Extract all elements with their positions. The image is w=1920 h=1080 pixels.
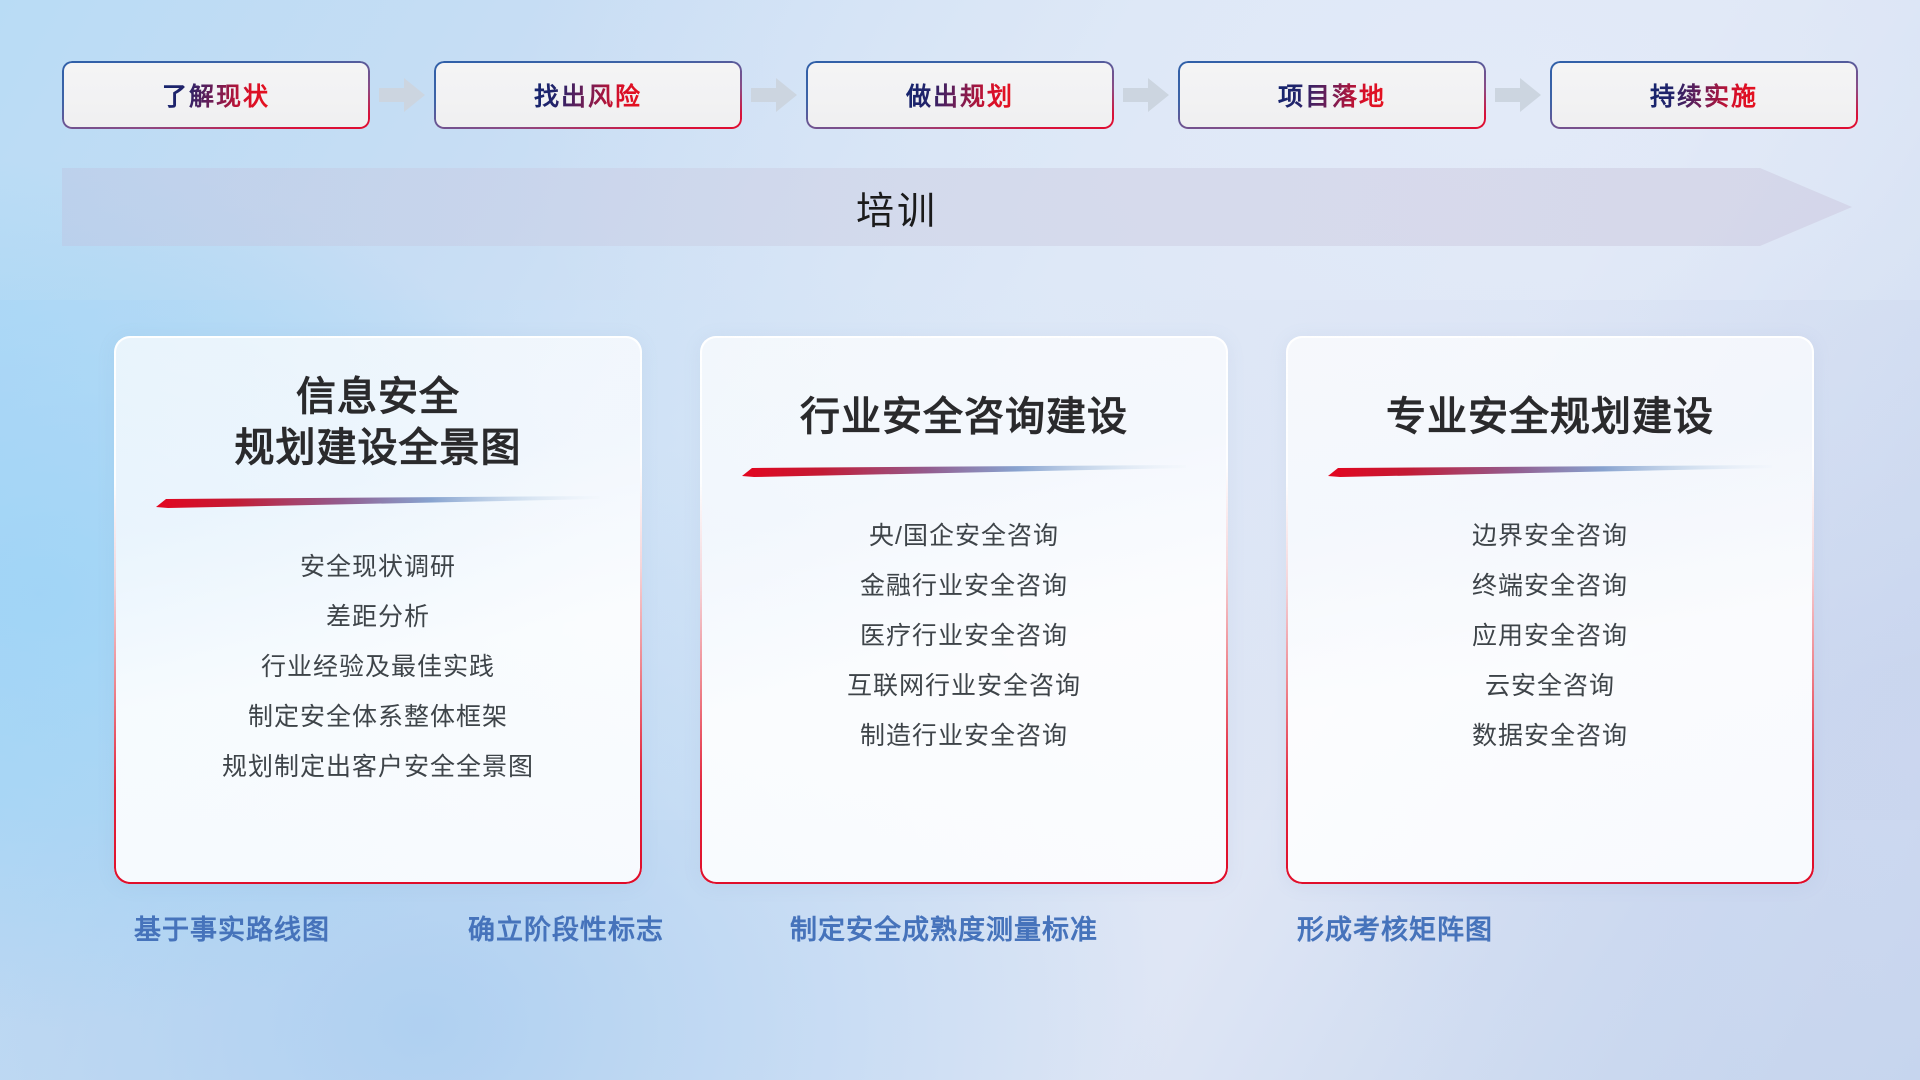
flow-step-label: 做出规划 [906, 77, 1014, 113]
card-divider [742, 465, 1186, 477]
card-title: 行业安全咨询建设 [742, 370, 1186, 443]
card-list-item: 医疗行业安全咨询 [860, 611, 1068, 661]
bottom-label-4: 形成考核矩阵图 [1297, 908, 1493, 947]
flow-step-label: 找出风险 [534, 77, 642, 113]
card-item-list: 央/国企安全咨询金融行业安全咨询医疗行业安全咨询互联网行业安全咨询制造行业安全咨… [742, 511, 1186, 761]
flow-step-3[interactable]: 做出规划 [806, 61, 1114, 129]
flow-step-2[interactable]: 找出风险 [434, 61, 742, 129]
service-card-2[interactable]: 行业安全咨询建设央/国企安全咨询金融行业安全咨询医疗行业安全咨询互联网行业安全咨… [700, 336, 1228, 884]
bottom-label-3: 制定安全成熟度测量标准 [790, 908, 1098, 947]
flow-step-4[interactable]: 项目落地 [1178, 61, 1486, 129]
bottom-labels-row: 基于事实路线图确立阶段性标志制定安全成熟度测量标准形成考核矩阵图 [0, 908, 1920, 962]
card-list-item: 制定安全体系整体框架 [248, 692, 508, 742]
card-title: 专业安全规划建设 [1328, 370, 1772, 443]
flow-step-1[interactable]: 了解现状 [62, 61, 370, 129]
service-card-1[interactable]: 信息安全 规划建设全景图安全现状调研差距分析行业经验及最佳实践制定安全体系整体框… [114, 336, 642, 884]
card-list-item: 央/国企安全咨询 [869, 511, 1059, 561]
flow-step-label: 了解现状 [162, 77, 270, 113]
flow-step-label: 持续实施 [1650, 77, 1758, 113]
card-list-item: 终端安全咨询 [1472, 561, 1628, 611]
card-list-item: 行业经验及最佳实践 [261, 642, 495, 692]
flow-step-label: 项目落地 [1278, 77, 1386, 113]
banner-title: 培训 [62, 168, 1852, 246]
flow-arrow-right-icon [1114, 61, 1178, 129]
card-list-item: 互联网行业安全咨询 [847, 661, 1081, 711]
service-card-3[interactable]: 专业安全规划建设边界安全咨询终端安全咨询应用安全咨询云安全咨询数据安全咨询 [1286, 336, 1814, 884]
flow-arrow-right-icon [370, 61, 434, 129]
flow-arrow-right-icon [1486, 61, 1550, 129]
card-list-item: 安全现状调研 [300, 542, 456, 592]
bottom-label-2: 确立阶段性标志 [468, 908, 664, 947]
card-divider [1328, 465, 1772, 477]
card-list-item: 云安全咨询 [1485, 661, 1615, 711]
card-list-item: 数据安全咨询 [1472, 711, 1628, 761]
card-title: 信息安全 规划建设全景图 [156, 370, 600, 474]
card-list-item: 差距分析 [326, 592, 430, 642]
card-item-list: 边界安全咨询终端安全咨询应用安全咨询云安全咨询数据安全咨询 [1328, 511, 1772, 761]
process-flow-row: 了解现状找出风险做出规划项目落地持续实施 [62, 61, 1858, 129]
card-list-item: 金融行业安全咨询 [860, 561, 1068, 611]
card-list-item: 边界安全咨询 [1472, 511, 1628, 561]
card-divider [156, 496, 600, 508]
card-list-item: 应用安全咨询 [1472, 611, 1628, 661]
flow-arrow-right-icon [742, 61, 806, 129]
cards-row: 信息安全 规划建设全景图安全现状调研差距分析行业经验及最佳实践制定安全体系整体框… [0, 336, 1920, 884]
bottom-label-1: 基于事实路线图 [134, 908, 330, 947]
card-list-item: 规划制定出客户安全全景图 [222, 742, 534, 792]
training-banner: 培训 [62, 168, 1852, 246]
card-list-item: 制造行业安全咨询 [860, 711, 1068, 761]
flow-step-5[interactable]: 持续实施 [1550, 61, 1858, 129]
card-item-list: 安全现状调研差距分析行业经验及最佳实践制定安全体系整体框架规划制定出客户安全全景… [156, 542, 600, 792]
